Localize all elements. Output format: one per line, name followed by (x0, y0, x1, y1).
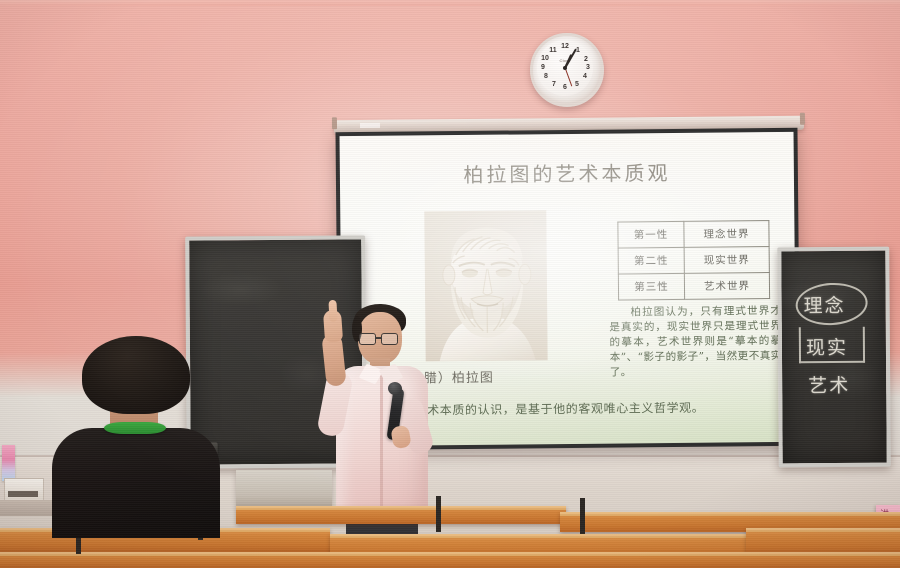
desk-row-back (236, 506, 566, 524)
roller-sticker (360, 123, 380, 128)
desk-leg (436, 496, 441, 532)
clock-number-11: 11 (548, 47, 558, 55)
table-cell-level: 第一性 (618, 221, 684, 248)
slide-title: 柏拉图的艺术本质观 (340, 156, 794, 189)
ceiling-seam (0, 0, 900, 6)
table-cell-world: 现实世界 (684, 247, 769, 274)
wall-poster (2, 445, 15, 481)
clock-number-4: 4 (580, 73, 590, 81)
glasses-bridge (375, 337, 381, 339)
chalk-text-idea: 理念 (804, 291, 846, 318)
clock-number-6: 6 (560, 84, 570, 92)
clock-number-7: 7 (549, 81, 559, 89)
desk-leg (580, 498, 585, 534)
wall-equipment-box (4, 478, 44, 502)
table-cell-level: 第三性 (618, 273, 684, 300)
chalk-text-art: 艺术 (808, 371, 850, 398)
classroom-photo: Clock 12 1 2 3 4 5 6 7 8 9 10 11 柏拉图的艺术本… (0, 0, 900, 568)
clock-center-pin (563, 66, 567, 70)
table-cell-world: 艺术世界 (684, 273, 769, 300)
desk-row-far-right (746, 528, 900, 554)
clock-number-9: 9 (538, 64, 548, 72)
glasses-left-lens (359, 333, 376, 345)
clock-number-10: 10 (540, 55, 550, 63)
glasses-right-lens (381, 333, 398, 345)
shirt-placket (380, 374, 383, 514)
slide-table: 第一性 理念世界 第二性 现实世界 第三性 艺术世界 (617, 220, 770, 300)
student-back-view (46, 336, 222, 526)
desk-edge (330, 534, 750, 538)
table-cell-world: 理念世界 (684, 221, 769, 248)
wall-clock: Clock 12 1 2 3 4 5 6 7 8 9 10 11 (530, 33, 604, 107)
table-cell-level: 第二性 (618, 247, 684, 274)
table-row: 第三性 艺术世界 (618, 273, 769, 300)
equipment-slot (8, 491, 38, 497)
clock-number-2: 2 (581, 56, 591, 64)
lecturer-pointing-finger (328, 300, 337, 322)
desk-edge (746, 528, 900, 532)
desk-edge (560, 512, 900, 516)
clock-number-5: 5 (572, 81, 582, 89)
clock-face: Clock 12 1 2 3 4 5 6 7 8 9 10 11 (537, 40, 593, 96)
clock-number-12: 12 (560, 43, 570, 51)
plato-bust-svg (424, 210, 547, 361)
table-row: 第二性 现实世界 (618, 247, 769, 274)
student-lanyard (104, 422, 166, 434)
clock-number-8: 8 (541, 73, 551, 81)
student-tshirt (52, 428, 220, 538)
desk-edge (236, 506, 566, 510)
table-row: 第一性 理念世界 (618, 221, 769, 248)
desk-edge (0, 552, 900, 556)
front-podium (236, 470, 332, 506)
plato-bust-image (424, 210, 547, 361)
blackboard-right: 理念 现实 艺术 (777, 247, 891, 468)
clock-number-3: 3 (583, 64, 593, 72)
desk-row-foreground (0, 552, 900, 568)
student-hair (82, 336, 190, 414)
roller-bracket-right (800, 113, 805, 125)
slide-paragraph: 柏拉图认为，只有理式世界才是真实的，现实世界只是理式世界的摹本，艺术世界则是“摹… (609, 304, 782, 381)
roller-bracket-left (332, 117, 337, 129)
chalk-text-reality: 现实 (806, 333, 848, 360)
